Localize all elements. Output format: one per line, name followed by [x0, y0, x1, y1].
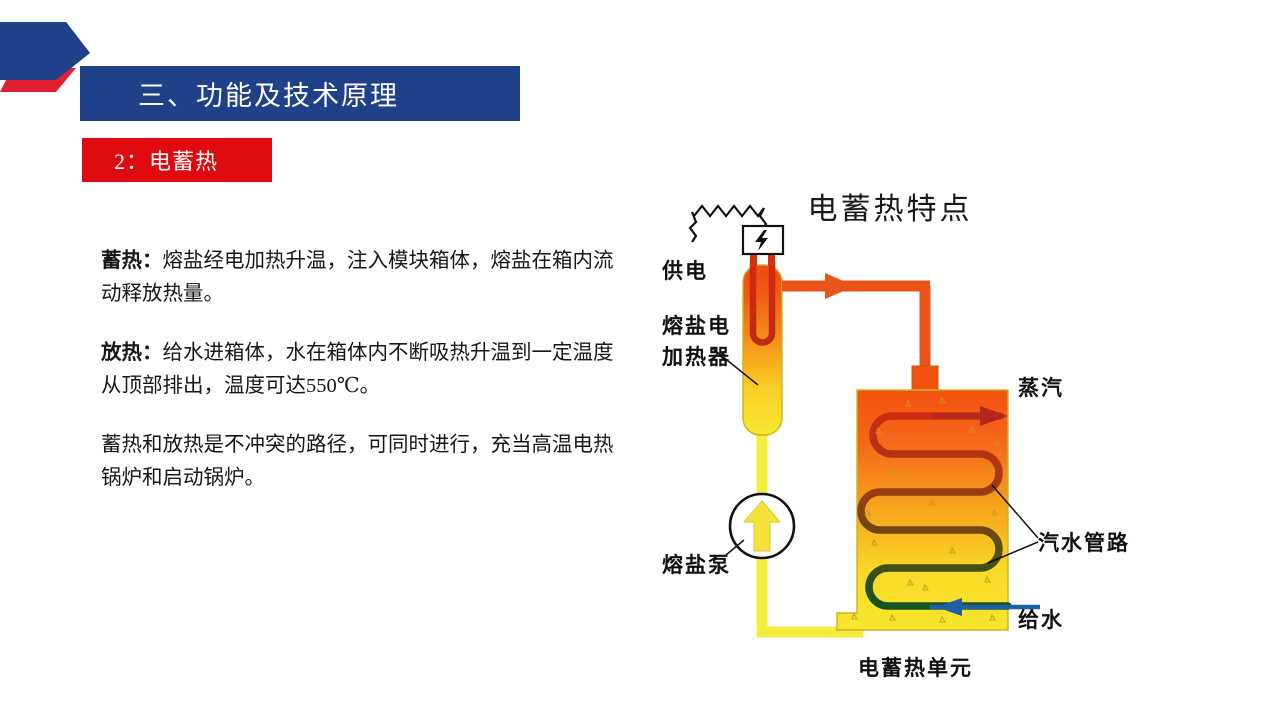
paragraph-lead-1: 蓄热：: [101, 250, 163, 272]
slide-canvas: 三、功能及技术原理 2：电蓄热 蓄热：熔盐经电加热升温，注入模块箱体，熔盐在箱内…: [0, 0, 1280, 720]
blue-chevron-shape: [0, 22, 90, 80]
subsection-title-text: 2：电蓄热: [82, 144, 218, 176]
diagram-svg: [640, 170, 1280, 700]
label-salt-pump: 熔盐泵: [662, 552, 731, 578]
diagram-title: 电蓄热特点: [640, 184, 1140, 228]
section-title-bar: 三、功能及技术原理: [80, 66, 520, 121]
section-title-text: 三、功能及技术原理: [80, 74, 399, 113]
paragraph-body-2: 给水进箱体，水在箱体内不断吸热升温到一定温度从顶部排出，温度可达550℃。: [101, 342, 614, 397]
hot-salt-supply-pipe: [782, 273, 930, 380]
label-storage-unit: 电蓄热单元: [858, 655, 973, 681]
subsection-title-bar: 2：电蓄热: [82, 138, 272, 182]
electric-heat-storage-diagram: 电蓄热特点: [640, 170, 1280, 700]
corner-shape-svg: [0, 20, 90, 92]
body-text-block: 蓄热：熔盐经电加热升温，注入模块箱体，熔盐在箱内流动释放热量。 放热：给水进箱体…: [101, 245, 621, 495]
molten-salt-electric-heater: [743, 252, 782, 435]
label-feed-water: 给水: [1018, 607, 1064, 633]
label-steam: 蒸汽: [1018, 375, 1064, 401]
heat-storage-tank: [837, 366, 1008, 630]
label-power-supply: 供电: [662, 258, 708, 284]
label-heater-line2: 加热器: [662, 344, 731, 370]
label-water-pipe: 汽水管路: [1038, 530, 1130, 556]
paragraph-body-1: 熔盐经电加热升温，注入模块箱体，熔盐在箱内流动释放热量。: [101, 250, 614, 305]
paragraph-summary: 蓄热和放热是不冲突的路径，可同时进行，充当高温电热锅炉和启动锅炉。: [101, 429, 621, 495]
hot-pipe-flow-arrow: [825, 273, 855, 299]
paragraph-lead-2: 放热：: [101, 342, 163, 364]
paragraph-body-3: 蓄热和放热是不冲突的路径，可同时进行，充当高温电热锅炉和启动锅炉。: [101, 434, 614, 489]
heater-vessel-body: [743, 265, 782, 435]
decorative-corner-graphic: [0, 20, 90, 92]
tank-inlet-neck: [912, 366, 938, 390]
molten-salt-pump: [730, 494, 794, 558]
paragraph-heat-storage: 蓄热：熔盐经电加热升温，注入模块箱体，熔盐在箱内流动释放热量。: [101, 245, 621, 311]
label-heater-line1: 熔盐电: [662, 313, 731, 339]
paragraph-heat-release: 放热：给水进箱体，水在箱体内不断吸热升温到一定温度从顶部排出，温度可达550℃。: [101, 337, 621, 403]
